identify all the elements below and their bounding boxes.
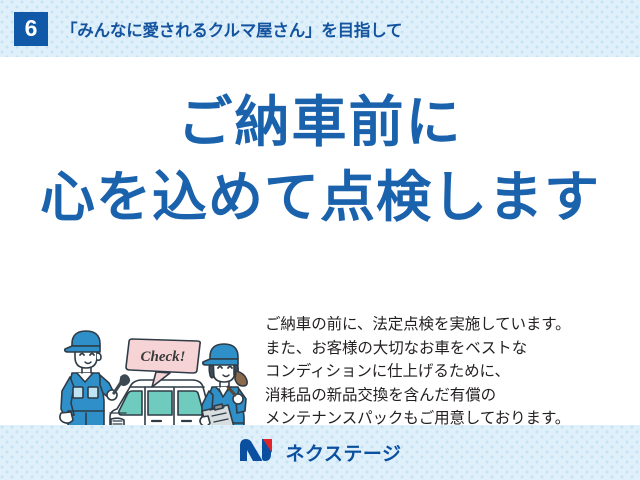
- header-band: 6 「みんなに愛されるクルマ屋さん」を目指して: [0, 0, 640, 57]
- headline-line-2: 心を込めて点検します: [0, 167, 640, 227]
- main-content: ご納車前に 心を込めて点検します: [0, 57, 640, 425]
- speech-bubble-label: Check!: [141, 349, 186, 365]
- step-number-badge: 6: [14, 12, 48, 46]
- brand-name: ネクステージ: [285, 439, 401, 466]
- description-line: ご納車の前に、法定点検を実施しています。: [265, 313, 625, 337]
- brand-logo: ネクステージ: [238, 437, 401, 468]
- headline-line-1: ご納車前に: [0, 92, 640, 152]
- description-line: また、お客様の大切なお車をベストな: [265, 337, 625, 361]
- description-line: コンディションに仕上げるために、: [265, 360, 625, 384]
- promo-panel: 6 「みんなに愛されるクルマ屋さん」を目指して ご納車前に 心を込めて点検します: [0, 0, 640, 480]
- header-title: 「みんなに愛されるクルマ屋さん」を目指して: [61, 17, 402, 41]
- footer-band: ネクステージ: [0, 425, 640, 480]
- description-line: 消耗品の新品交換を含んだ有償の: [265, 384, 625, 408]
- nextage-n-mark-icon: [238, 437, 276, 468]
